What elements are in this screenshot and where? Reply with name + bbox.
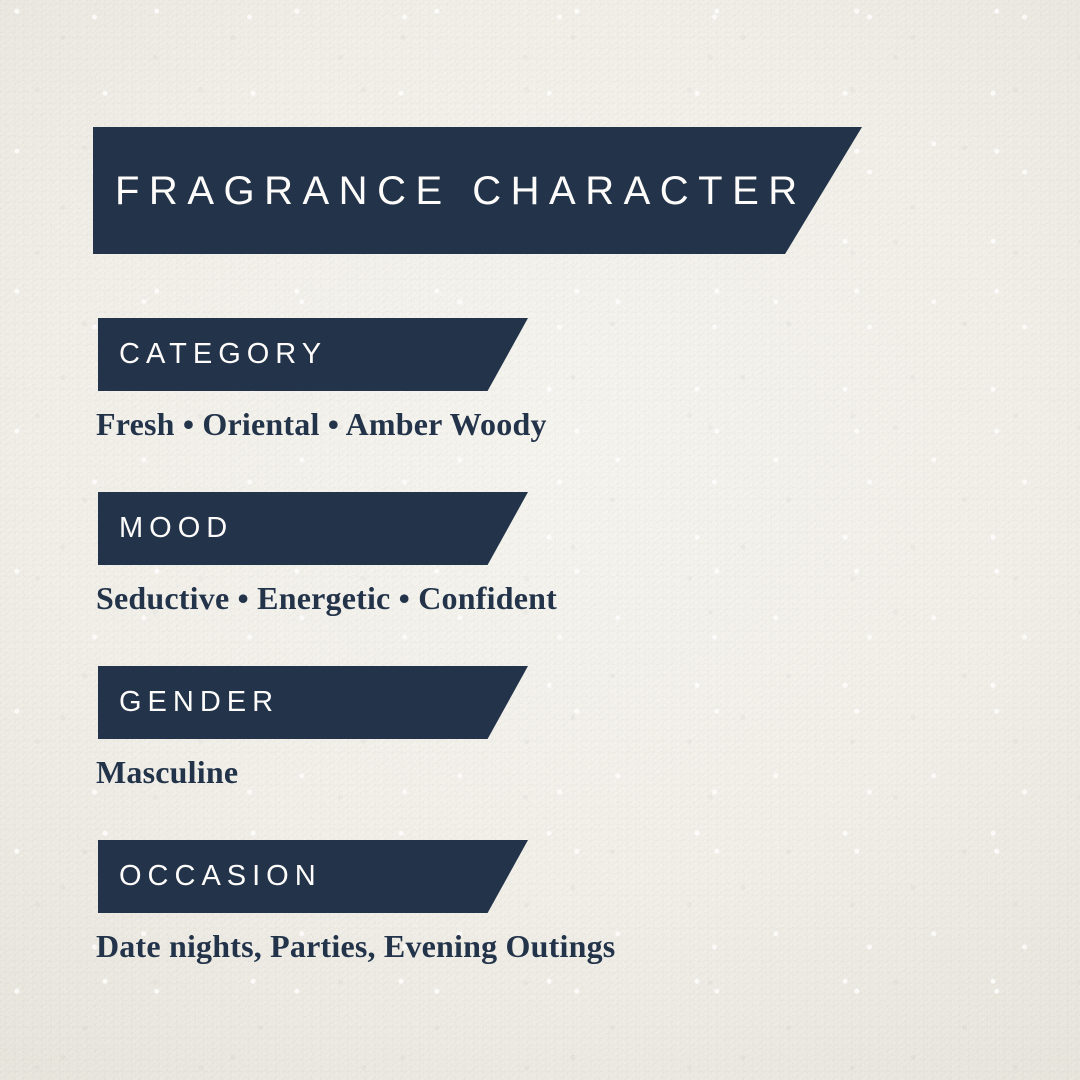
section-value-occasion: Date nights, Parties, Evening Outings: [96, 930, 615, 962]
section-label-occasion: OCCASION: [119, 862, 322, 891]
section-label-banner-gender: GENDER: [98, 666, 528, 739]
page-title: FRAGRANCE CHARACTER: [115, 171, 807, 211]
section-label-banner-category: CATEGORY: [98, 318, 528, 391]
section-value-gender: Masculine: [96, 756, 238, 788]
section-value-mood: Seductive • Energetic • Confident: [96, 582, 557, 614]
page-title-banner: FRAGRANCE CHARACTER: [93, 127, 862, 254]
section-label-banner-occasion: OCCASION: [98, 840, 528, 913]
section-value-category: Fresh • Oriental • Amber Woody: [96, 408, 547, 440]
fragrance-character-card: FRAGRANCE CHARACTER CATEGORY Fresh • Ori…: [0, 0, 1080, 1080]
section-label-gender: GENDER: [119, 688, 279, 717]
section-label-mood: MOOD: [119, 514, 233, 543]
section-label-category: CATEGORY: [119, 340, 327, 369]
section-label-banner-mood: MOOD: [98, 492, 528, 565]
